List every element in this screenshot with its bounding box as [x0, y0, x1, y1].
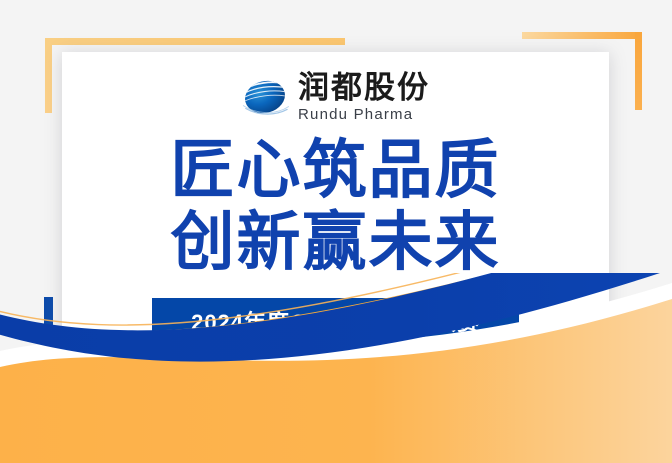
brand-text: 润都股份 Rundu Pharma	[298, 72, 430, 122]
brand-lockup: 润都股份 Rundu Pharma	[62, 72, 609, 122]
brand-name-en: Rundu Pharma	[298, 107, 413, 122]
bracket-vertical-bar	[635, 32, 642, 110]
headline-line-1: 匠心筑品质	[62, 135, 609, 207]
headline-line-2: 创新赢未来	[62, 207, 609, 279]
brand-name-cn: 润都股份	[298, 72, 430, 103]
rundu-globe-logo-icon	[241, 73, 289, 121]
subtitle-banner: 2024年度QCC成果发表大赛	[152, 298, 519, 344]
left-accent-tick-icon	[44, 297, 53, 354]
bracket-horizontal-bar	[522, 32, 642, 39]
poster-card: 润都股份 Rundu Pharma 匠心筑品质 创新赢未来 2024年度QCC成…	[62, 52, 609, 420]
bracket-vertical-bar	[45, 38, 52, 113]
subtitle-text: 2024年度QCC成果发表大赛	[191, 305, 480, 337]
bracket-horizontal-bar	[45, 38, 345, 45]
poster-canvas: 润都股份 Rundu Pharma 匠心筑品质 创新赢未来 2024年度QCC成…	[0, 0, 672, 463]
headline: 匠心筑品质 创新赢未来	[62, 135, 609, 278]
